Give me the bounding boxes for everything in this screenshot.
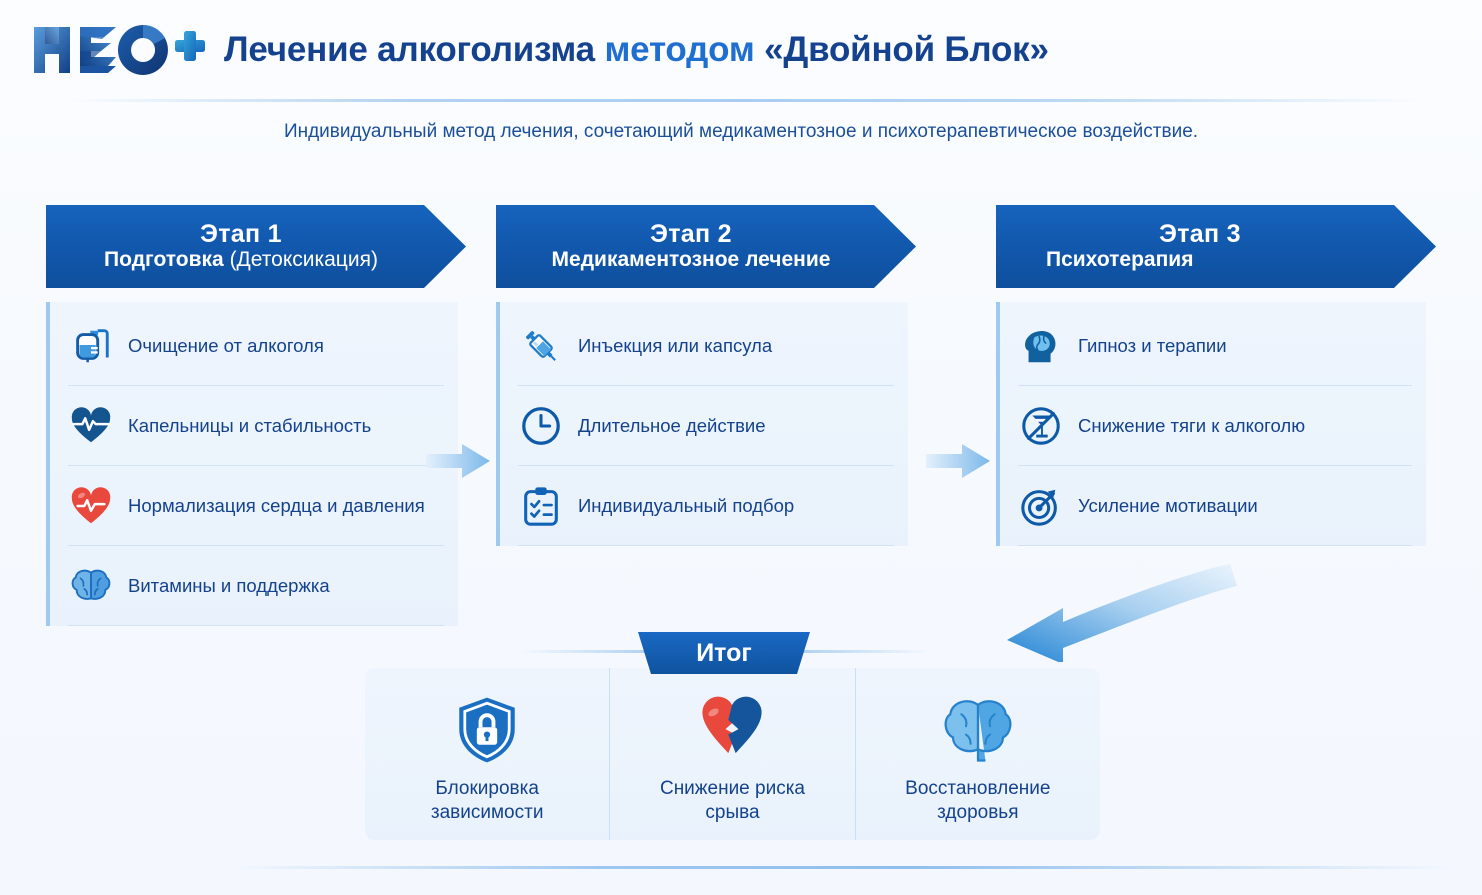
stage-1-subtitle-light: (Детоксикация) <box>224 248 378 271</box>
stage-2-subtitle: Медикаментозное лечение <box>552 247 831 272</box>
no-alcohol-icon <box>1018 403 1064 449</box>
result-item-1-label: Блокировка зависимости <box>431 777 544 826</box>
stage-arrow-2 <box>926 441 992 481</box>
syringe-icon <box>518 323 564 369</box>
stage-3-body: Гипноз и терапии Снижение тяги к алкогол… <box>996 302 1426 546</box>
stage-2-item-3-label: Индивидуальный подбор <box>578 495 794 517</box>
stage-2-item-2-label: Длительное действие <box>578 415 766 437</box>
stage-1-body: Очищение от алкоголя Капельницы и стабил… <box>46 302 458 626</box>
stage-3-item-1[interactable]: Гипноз и терапии <box>1018 306 1412 386</box>
stage-1-number: Этап 1 <box>200 221 282 248</box>
stage-3-item-1-label: Гипноз и терапии <box>1078 335 1227 357</box>
clipboard-checklist-icon <box>518 483 564 529</box>
stage-2: Этап 2 Медикаментозное лечение <box>496 205 916 546</box>
stage-arrow-1 <box>426 441 492 481</box>
stage-3-item-2[interactable]: Снижение тяги к алкоголю <box>1018 386 1412 466</box>
shield-lock-icon <box>447 691 527 769</box>
page-header: Лечение алкоголизма методом «Двойной Бло… <box>0 0 1482 100</box>
brain-health-icon <box>938 691 1018 769</box>
result-item-2-line1: Снижение риска <box>660 778 805 799</box>
result-item-1-line1: Блокировка <box>435 778 539 799</box>
page-title: Лечение алкоголизма методом «Двойной Бло… <box>224 30 1049 70</box>
stage-2-body: Инъекция или капсула Длительное действие <box>496 302 908 546</box>
stage-1-item-4[interactable]: Витамины и поддержка <box>68 546 444 626</box>
stage-3-subtitle: Психотерапия <box>1046 247 1193 272</box>
stage-1-item-4-label: Витамины и поддержка <box>128 575 330 597</box>
brain-icon <box>68 563 114 609</box>
stage-2-item-1-label: Инъекция или капсула <box>578 335 772 357</box>
clock-icon <box>518 403 564 449</box>
header-divider <box>70 99 1420 102</box>
stage-3: Этап 3 Психотерапия Гипноз и терапии <box>996 205 1436 546</box>
stage-3-item-3[interactable]: Усиление мотивации <box>1018 466 1412 546</box>
neo-plus-logo <box>30 21 206 79</box>
head-brain-icon <box>1018 323 1064 369</box>
stage-1-item-3[interactable]: Нормализация сердца и давления <box>68 466 444 546</box>
stage-3-item-3-label: Усиление мотивации <box>1078 495 1258 517</box>
stage-3-item-2-label: Снижение тяги к алкоголю <box>1078 415 1305 437</box>
result-curved-arrow <box>975 552 1275 662</box>
title-part-3: «Двойной Блок» <box>764 30 1049 69</box>
stage-2-item-2[interactable]: Длительное действие <box>518 386 894 466</box>
stage-1-header: Этап 1 Подготовка (Детоксикация) <box>46 205 466 288</box>
result-item-3-label: Восстановление здоровья <box>905 777 1050 826</box>
stage-1: Этап 1 Подготовка (Детоксикация) <box>46 205 466 626</box>
stage-1-subtitle: Подготовка (Детоксикация) <box>104 247 378 272</box>
result-item-1-line2: зависимости <box>431 802 544 823</box>
stage-2-header: Этап 2 Медикаментозное лечение <box>496 205 916 288</box>
page-subtitle: Индивидуальный метод лечения, сочетающий… <box>0 121 1482 143</box>
stage-1-item-1[interactable]: Очищение от алкоголя <box>68 306 444 386</box>
stages-row: Этап 1 Подготовка (Детоксикация) <box>0 205 1482 555</box>
stage-2-number: Этап 2 <box>650 221 732 248</box>
infographic-page: Лечение алкоголизма методом «Двойной Бло… <box>0 0 1482 895</box>
stage-1-subtitle-bold: Подготовка <box>104 248 224 271</box>
footer-divider <box>230 866 1460 869</box>
title-part-2: методом <box>604 30 754 69</box>
result-item-2[interactable]: Снижение риска срыва <box>609 668 854 840</box>
result-panel: Блокировка зависимости Снижение риска ср… <box>365 668 1100 840</box>
stage-2-item-3[interactable]: Индивидуальный подбор <box>518 466 894 546</box>
stage-1-item-3-label: Нормализация сердца и давления <box>128 495 425 517</box>
title-part-1: Лечение алкоголизма <box>224 30 595 69</box>
result-item-3-line2: здоровья <box>937 802 1018 823</box>
heart-pulse-red-icon <box>68 483 114 529</box>
stage-2-item-1[interactable]: Инъекция или капсула <box>518 306 894 386</box>
stage-3-header: Этап 3 Психотерапия <box>996 205 1436 288</box>
stage-1-item-2-label: Капельницы и стабильность <box>128 415 371 437</box>
result-item-2-line2: срыва <box>705 802 759 823</box>
result-item-1[interactable]: Блокировка зависимости <box>365 668 609 840</box>
result-item-3-line1: Восстановление <box>905 778 1050 799</box>
result-item-2-label: Снижение риска срыва <box>660 777 805 826</box>
result-badge: Итог <box>634 632 814 674</box>
stage-3-number: Этап 3 <box>1159 221 1241 248</box>
stage-1-item-1-label: Очищение от алкоголя <box>128 335 324 357</box>
target-arrow-icon <box>1018 483 1064 529</box>
broken-heart-icon <box>692 691 772 769</box>
heart-pulse-blue-icon <box>68 403 114 449</box>
stage-1-item-2[interactable]: Капельницы и стабильность <box>68 386 444 466</box>
iv-bag-icon <box>68 323 114 369</box>
result-item-3[interactable]: Восстановление здоровья <box>855 668 1100 840</box>
